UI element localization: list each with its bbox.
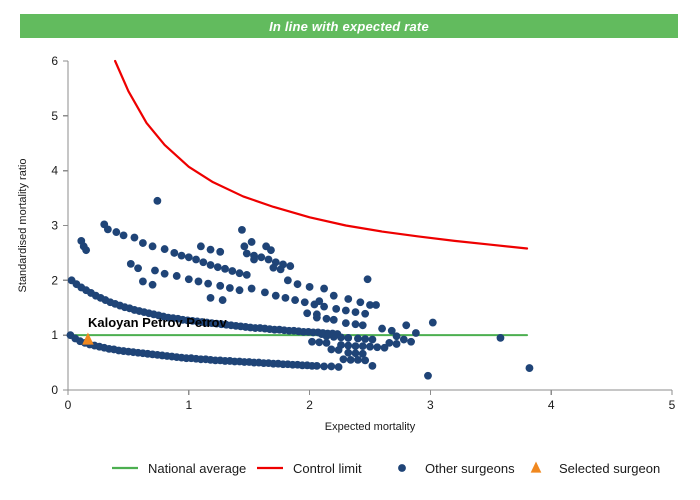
y-axis-title: Standardised mortality ratio — [17, 159, 29, 293]
other-surgeon-point[interactable] — [347, 356, 355, 364]
other-surgeon-point[interactable] — [195, 278, 203, 286]
other-surgeon-point[interactable] — [342, 319, 350, 327]
other-surgeon-point[interactable] — [149, 242, 157, 250]
funnel-plot-svg: 0123456012345Expected mortalityStandardi… — [0, 0, 700, 500]
other-surgeon-point[interactable] — [354, 335, 362, 343]
other-surgeon-point[interactable] — [185, 253, 193, 261]
y-tick-label: 0 — [51, 383, 58, 397]
other-surgeon-point[interactable] — [197, 242, 205, 250]
other-surgeon-point[interactable] — [402, 321, 410, 329]
other-surgeon-point[interactable] — [214, 263, 222, 271]
x-tick-label: 3 — [427, 398, 434, 412]
other-surgeon-point[interactable] — [366, 343, 374, 351]
other-surgeon-point[interactable] — [173, 272, 181, 280]
other-surgeon-point[interactable] — [301, 298, 309, 306]
other-surgeon-point[interactable] — [139, 278, 147, 286]
other-surgeon-point[interactable] — [161, 245, 169, 253]
other-surgeon-point[interactable] — [248, 238, 256, 246]
other-surgeon-point[interactable] — [226, 284, 234, 292]
other-surgeon-point[interactable] — [407, 338, 415, 346]
other-surgeon-point[interactable] — [104, 225, 112, 233]
other-surgeon-point[interactable] — [265, 256, 273, 264]
other-surgeon-point[interactable] — [272, 292, 280, 300]
funnel-plot-page: In line with expected rate 0123456012345… — [0, 0, 700, 500]
other-surgeon-point[interactable] — [250, 256, 258, 264]
data-series — [67, 61, 534, 380]
other-surgeon-point[interactable] — [372, 301, 380, 309]
other-surgeon-point[interactable] — [526, 364, 534, 372]
y-tick-label: 5 — [51, 109, 58, 123]
other-surgeon-point[interactable] — [373, 343, 381, 351]
other-surgeon-point[interactable] — [369, 336, 377, 344]
annotation-layer: Kaloyan Petrov Petrov — [88, 315, 227, 330]
other-surgeon-point[interactable] — [354, 356, 362, 364]
other-surgeon-point[interactable] — [359, 342, 367, 350]
other-surgeon-point[interactable] — [120, 231, 128, 239]
other-surgeon-point[interactable] — [378, 325, 386, 333]
other-surgeon-point[interactable] — [269, 264, 277, 272]
other-surgeon-point[interactable] — [170, 249, 178, 257]
other-surgeon-point[interactable] — [267, 246, 275, 254]
other-surgeon-point[interactable] — [429, 319, 437, 327]
legend-item-other-surgeons[interactable]: Other surgeons — [398, 461, 515, 476]
other-surgeon-point[interactable] — [352, 320, 360, 328]
y-tick-label: 6 — [51, 54, 58, 68]
other-surgeon-point[interactable] — [315, 297, 323, 305]
other-surgeon-point[interactable] — [185, 275, 193, 283]
other-surgeon-point[interactable] — [364, 275, 372, 283]
other-surgeon-point[interactable] — [344, 349, 352, 357]
other-surgeon-point[interactable] — [151, 267, 159, 275]
other-surgeon-point[interactable] — [294, 280, 302, 288]
other-surgeon-point[interactable] — [344, 334, 352, 342]
other-surgeon-point[interactable] — [178, 252, 186, 260]
other-surgeon-point[interactable] — [400, 336, 408, 344]
other-surgeon-point[interactable] — [207, 294, 215, 302]
other-surgeon-point[interactable] — [303, 309, 311, 317]
other-surgeon-point[interactable] — [131, 234, 139, 242]
other-surgeon-point[interactable] — [320, 285, 328, 293]
other-surgeon-point[interactable] — [352, 308, 360, 316]
legend-circle-swatch — [398, 464, 406, 472]
control-limit-line — [115, 61, 527, 249]
other-surgeon-point[interactable] — [282, 294, 290, 302]
x-tick-label: 5 — [669, 398, 676, 412]
other-surgeon-point[interactable] — [369, 362, 377, 370]
other-surgeon-point[interactable] — [340, 355, 348, 363]
legend-label: Other surgeons — [425, 461, 515, 476]
other-surgeon-point[interactable] — [192, 256, 200, 264]
other-surgeon-point[interactable] — [82, 246, 90, 254]
other-surgeon-point[interactable] — [342, 307, 350, 315]
other-surgeon-point[interactable] — [361, 335, 369, 343]
other-surgeon-point[interactable] — [318, 330, 326, 338]
legend-item-national-average[interactable]: National average — [112, 461, 246, 476]
other-surgeon-point[interactable] — [238, 226, 246, 234]
other-surgeon-point[interactable] — [393, 340, 401, 348]
other-surgeon-point[interactable] — [306, 283, 314, 291]
other-surgeon-point[interactable] — [240, 242, 248, 250]
legend-label: Selected surgeon — [559, 461, 660, 476]
other-surgeon-point[interactable] — [161, 270, 169, 278]
other-surgeon-point[interactable] — [356, 298, 364, 306]
other-surgeon-point[interactable] — [325, 331, 333, 339]
other-surgeon-point[interactable] — [216, 248, 224, 256]
y-tick-label: 4 — [51, 164, 58, 178]
other-surgeon-point[interactable] — [385, 339, 393, 347]
axes: 0123456012345Expected mortalityStandardi… — [17, 54, 676, 433]
other-surgeon-point[interactable] — [127, 260, 135, 268]
x-axis-title: Expected mortality — [325, 421, 416, 433]
other-surgeon-point[interactable] — [291, 296, 299, 304]
other-surgeon-point[interactable] — [236, 286, 244, 294]
other-surgeon-point[interactable] — [323, 315, 331, 323]
other-surgeon-point[interactable] — [199, 258, 207, 266]
other-surgeon-point[interactable] — [308, 338, 316, 346]
other-surgeon-point[interactable] — [248, 285, 256, 293]
other-surgeon-point[interactable] — [332, 305, 340, 313]
other-surgeon-point[interactable] — [204, 280, 212, 288]
other-surgeon-point[interactable] — [261, 288, 269, 296]
other-surgeon-point[interactable] — [327, 363, 335, 371]
other-surgeon-point[interactable] — [277, 265, 285, 273]
other-surgeon-point[interactable] — [313, 362, 321, 370]
other-surgeon-point[interactable] — [315, 338, 323, 346]
x-tick-label: 4 — [548, 398, 555, 412]
other-surgeon-point[interactable] — [243, 250, 251, 258]
legend-item-control-limit[interactable]: Control limit — [257, 461, 362, 476]
x-tick-label: 2 — [306, 398, 313, 412]
other-surgeon-point[interactable] — [257, 253, 265, 261]
other-surgeon-point[interactable] — [207, 261, 215, 269]
other-surgeon-point[interactable] — [359, 321, 367, 329]
legend-label: National average — [148, 461, 246, 476]
x-tick-label: 1 — [185, 398, 192, 412]
other-surgeon-point[interactable] — [153, 197, 161, 205]
other-surgeon-point[interactable] — [335, 346, 343, 354]
other-surgeon-point[interactable] — [149, 281, 157, 289]
other-surgeon-point[interactable] — [134, 264, 142, 272]
other-surgeon-point[interactable] — [412, 329, 420, 337]
chart-container: 0123456012345Expected mortalityStandardi… — [0, 0, 700, 500]
y-tick-label: 1 — [51, 328, 58, 342]
other-surgeon-point[interactable] — [284, 276, 292, 284]
selected-surgeon-label: Kaloyan Petrov Petrov — [88, 315, 227, 330]
other-surgeon-point[interactable] — [139, 239, 147, 247]
other-surgeon-point[interactable] — [335, 363, 343, 371]
y-tick-label: 2 — [51, 273, 58, 287]
other-surgeon-point[interactable] — [337, 333, 345, 341]
other-surgeon-point[interactable] — [393, 332, 401, 340]
other-surgeon-point[interactable] — [219, 296, 227, 304]
chart-legend: National averageControl limitOther surge… — [112, 461, 660, 476]
other-surgeon-point[interactable] — [424, 372, 432, 380]
other-surgeon-point[interactable] — [236, 269, 244, 277]
other-surgeon-point[interactable] — [221, 265, 229, 273]
other-surgeon-point[interactable] — [330, 316, 338, 324]
other-surgeon-point[interactable] — [344, 342, 352, 350]
other-surgeon-point[interactable] — [327, 346, 335, 354]
legend-label: Control limit — [293, 461, 362, 476]
legend-item-selected-surgeon[interactable]: Selected surgeon — [531, 461, 661, 476]
other-surgeon-point[interactable] — [361, 356, 369, 364]
other-surgeon-point[interactable] — [243, 271, 251, 279]
other-surgeon-point[interactable] — [361, 310, 369, 318]
y-tick-label: 3 — [51, 219, 58, 233]
x-tick-label: 0 — [65, 398, 72, 412]
other-surgeon-point[interactable] — [313, 310, 321, 318]
other-surgeon-point[interactable] — [112, 228, 120, 236]
other-surgeon-point[interactable] — [216, 282, 224, 290]
other-surgeon-point[interactable] — [286, 262, 294, 270]
legend-triangle-swatch — [531, 462, 542, 473]
other-surgeon-point[interactable] — [330, 292, 338, 300]
other-surgeon-point[interactable] — [207, 246, 215, 254]
other-surgeon-point[interactable] — [228, 267, 236, 275]
other-surgeon-point[interactable] — [497, 334, 505, 342]
other-surgeon-point[interactable] — [344, 295, 352, 303]
other-surgeon-point[interactable] — [323, 339, 331, 347]
other-surgeon-point[interactable] — [320, 363, 328, 371]
other-surgeon-point[interactable] — [352, 342, 360, 350]
